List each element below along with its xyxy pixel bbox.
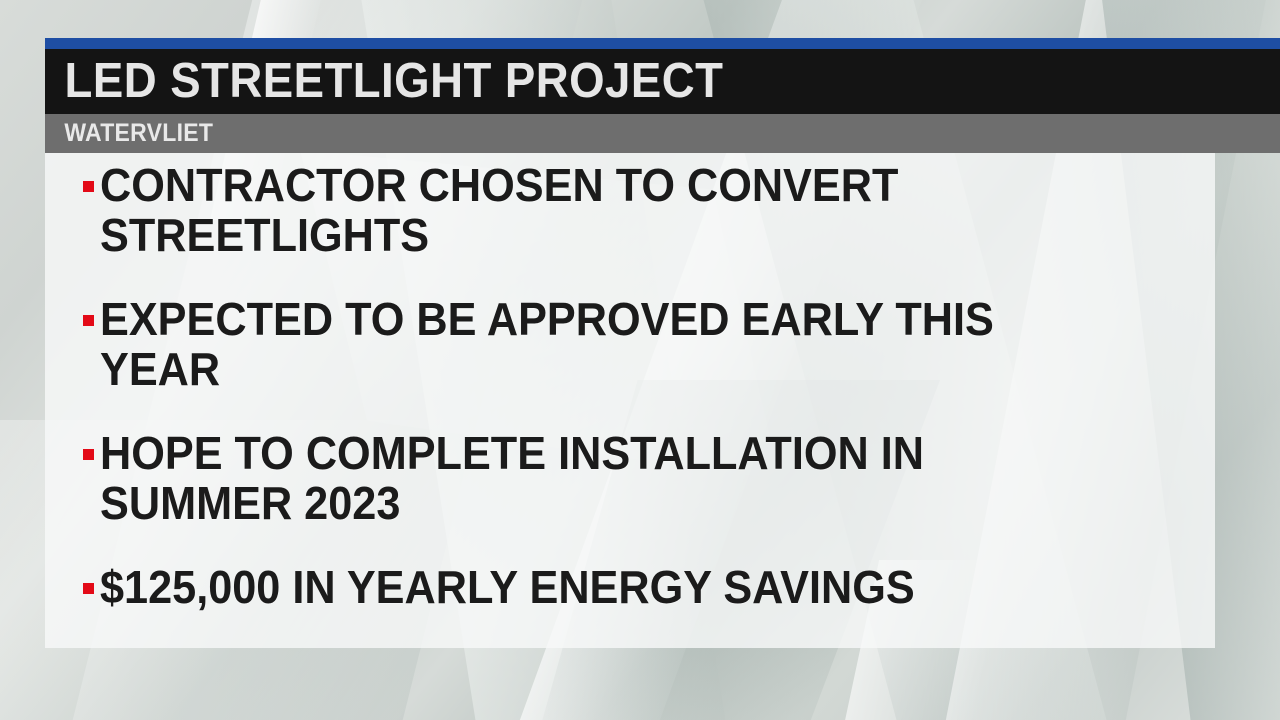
bullet-list: CONTRACTOR CHOSEN TO CONVERT STREETLIGHT… [45, 160, 1215, 612]
list-item-label: EXPECTED TO BE APPROVED EARLY THIS YEAR [100, 294, 1049, 394]
list-item: HOPE TO COMPLETE INSTALLATION IN SUMMER … [83, 428, 1195, 528]
broadcast-graphic: LED STREETLIGHT PROJECT WATERVLIET CONTR… [0, 0, 1280, 720]
accent-bar [45, 38, 1280, 49]
list-item: CONTRACTOR CHOSEN TO CONVERT STREETLIGHT… [83, 160, 1195, 260]
square-bullet-icon [83, 583, 94, 594]
square-bullet-icon [83, 315, 94, 326]
location-bar: WATERVLIET [45, 114, 1280, 153]
title-bar: LED STREETLIGHT PROJECT [45, 49, 1280, 114]
square-bullet-icon [83, 449, 94, 460]
list-item: $125,000 IN YEARLY ENERGY SAVINGS [83, 562, 1195, 612]
square-bullet-icon [83, 181, 94, 192]
list-item-label: $125,000 IN YEARLY ENERGY SAVINGS [100, 562, 915, 612]
list-item-label: HOPE TO COMPLETE INSTALLATION IN SUMMER … [100, 428, 1049, 528]
list-item: EXPECTED TO BE APPROVED EARLY THIS YEAR [83, 294, 1195, 394]
list-item-label: CONTRACTOR CHOSEN TO CONVERT STREETLIGHT… [100, 160, 1049, 260]
page-title: LED STREETLIGHT PROJECT [45, 57, 723, 106]
location-label: WATERVLIET [45, 121, 213, 146]
